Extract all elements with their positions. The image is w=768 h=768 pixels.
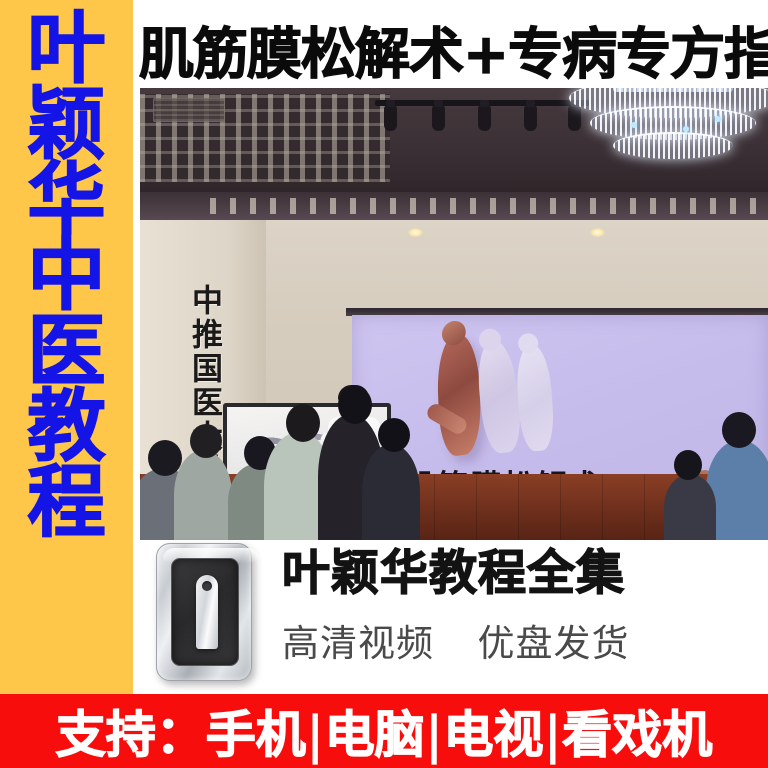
promo-sub-right: 优盘发货: [478, 622, 630, 665]
support-item-opera-player: 看戏机: [562, 706, 712, 764]
audience-head: [674, 450, 702, 480]
anatomy-ligament-figure: [474, 339, 523, 454]
audience-member: [174, 450, 232, 540]
usb-drive-product-image: [150, 539, 266, 689]
support-item-computer: 电脑: [325, 706, 425, 764]
usb-keyring-hole: [202, 581, 212, 591]
support-banner: 支持：手机|电脑|电视|看戏机: [0, 694, 768, 768]
vertical-title-band: 叶 颖 华 中 医 教 程: [0, 0, 133, 694]
promotional-poster: 叶 颖 华 中 医 教 程 肌筋膜松解术+专病专方指导: [0, 0, 768, 768]
chandelier-icon: [565, 88, 768, 181]
chandelier-ring: [613, 132, 733, 159]
audience-head: [378, 418, 410, 452]
promo-main-text: 叶颖华教程全集: [282, 548, 768, 600]
header-title-text: 肌筋膜松解术+专病专方指导: [139, 12, 768, 86]
anatomy-muscle-figure: [436, 332, 482, 458]
support-banner-text: 支持：手机|电脑|电视|看戏机: [56, 695, 713, 767]
audience-head: [722, 412, 756, 448]
track-lamp-icon: [478, 105, 491, 131]
ceiling-vent-icon: [153, 98, 225, 122]
support-separator: |: [306, 706, 325, 764]
audience-member: [664, 474, 716, 540]
downlight-icon: [408, 228, 423, 237]
support-separator: |: [425, 706, 444, 764]
chandelier-light-dot: [715, 116, 721, 122]
chandelier-light-dot: [631, 122, 637, 128]
anatomy-skeleton-figure: [514, 344, 555, 452]
lecture-photo: 中推国医大讲堂 肌筋膜松解术 叶颖华: [140, 88, 768, 540]
tin-foam-insert: [171, 558, 239, 666]
ceiling-soffit: [140, 192, 768, 220]
audience-head: [338, 386, 372, 424]
vertical-title-char-4: 中: [27, 239, 105, 315]
vertical-title-char-2: 颖: [27, 88, 105, 164]
track-lamp-icon: [384, 105, 397, 131]
support-item-phone: 手机: [206, 706, 306, 764]
promo-sub-line: 高清视频 优盘发货: [282, 613, 768, 667]
support-item-tv: 电视: [443, 706, 543, 764]
soffit-light-strip: [210, 198, 768, 214]
promo-text-block: 叶颖华教程全集 高清视频 优盘发货: [282, 548, 768, 688]
promo-sub-left: 高清视频: [282, 622, 434, 665]
support-separator: |: [543, 706, 562, 764]
metal-tin-case: [156, 543, 252, 681]
vertical-title-char-3: 华: [27, 163, 105, 239]
audience-head: [190, 424, 222, 458]
chandelier-light-dot: [683, 126, 689, 132]
track-lamp-icon: [432, 105, 445, 131]
support-prefix: 支持：: [56, 706, 206, 764]
ceiling: [140, 88, 768, 196]
vertical-title-char-7: 程: [27, 466, 105, 542]
vertical-title-char-6: 教: [27, 390, 105, 466]
header-title: 肌筋膜松解术+专病专方指导: [139, 12, 768, 86]
vertical-title-char-5: 医: [27, 315, 105, 391]
audience-member: [362, 444, 420, 540]
track-lamp-icon: [524, 105, 537, 131]
audience-head: [148, 440, 182, 476]
vertical-title-char-1: 叶: [27, 12, 105, 88]
usb-flash-drive-icon: [196, 575, 218, 649]
downlight-icon: [590, 228, 605, 237]
audience-head: [286, 404, 320, 442]
